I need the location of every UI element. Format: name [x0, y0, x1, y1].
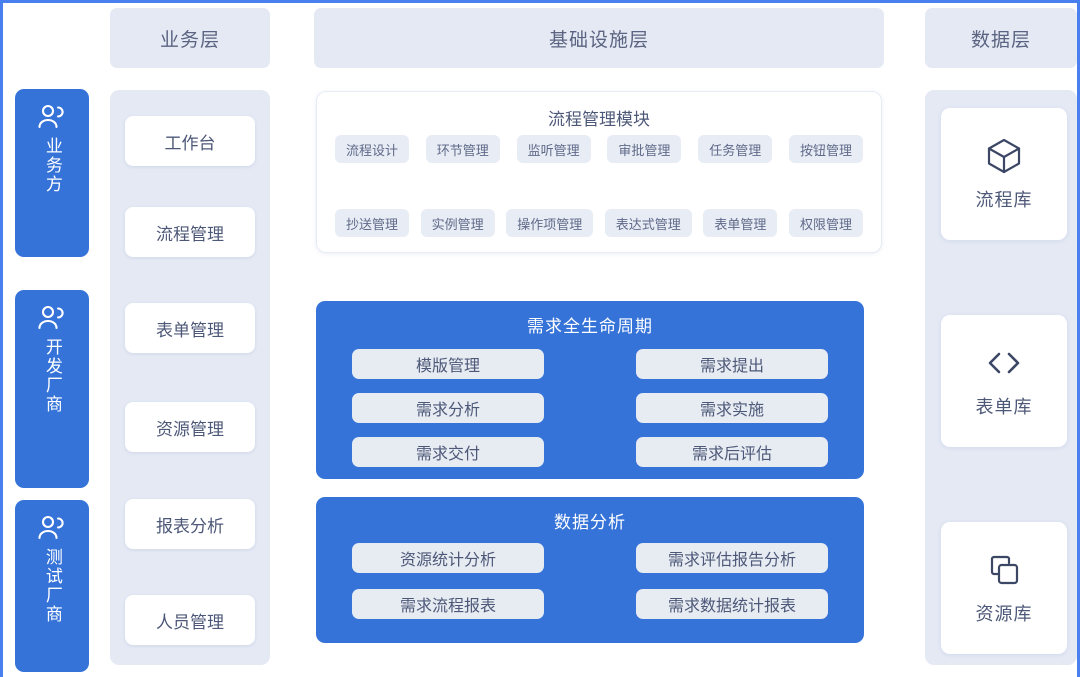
- data-card-label: 表单库: [976, 393, 1033, 419]
- analysis-item-resource-statistics[interactable]: 资源统计分析: [352, 543, 544, 573]
- analysis-item-requirement-data-statistics-report[interactable]: 需求数据统计报表: [636, 589, 828, 619]
- business-item-label: 报表分析: [156, 512, 224, 537]
- process-module-chip-row-2: 抄送管理 实例管理 操作项管理 表达式管理 表单管理 权限管理: [335, 209, 863, 237]
- code-brackets-icon: [984, 343, 1024, 383]
- business-layer-panel: [110, 90, 270, 665]
- lifecycle-item-post-requirement-evaluation[interactable]: 需求后评估: [636, 437, 828, 467]
- chip-button-management[interactable]: 按钮管理: [789, 135, 863, 163]
- lifecycle-item-template-management[interactable]: 模版管理: [352, 349, 544, 379]
- data-card-label: 资源库: [976, 600, 1033, 626]
- business-item-workbench[interactable]: 工作台: [125, 116, 255, 166]
- chip-node-management[interactable]: 环节管理: [426, 135, 500, 163]
- requirement-lifecycle-items: 模版管理 需求提出 需求分析 需求实施 需求交付 需求后评估: [316, 349, 864, 481]
- chip-task-management[interactable]: 任务管理: [698, 135, 772, 163]
- chip-cc-management[interactable]: 抄送管理: [335, 209, 409, 237]
- cube-icon: [984, 136, 1024, 176]
- lifecycle-item-requirement-implementation[interactable]: 需求实施: [636, 393, 828, 423]
- process-management-module-card: 流程管理模块 流程设计 环节管理 监听管理 审批管理 任务管理 按钮管理 抄送管…: [316, 91, 882, 253]
- actor-card-development-vendor[interactable]: 开发厂商: [15, 290, 89, 488]
- business-item-label: 人员管理: [156, 608, 224, 633]
- layer-header-business-label: 业务层: [160, 25, 220, 52]
- lifecycle-item-requirement-analysis[interactable]: 需求分析: [352, 393, 544, 423]
- actor-card-business-party[interactable]: 业务方: [15, 89, 89, 257]
- data-card-process-repository[interactable]: 流程库: [941, 108, 1067, 240]
- layer-header-business: 业务层: [110, 8, 270, 68]
- data-analysis-panel: 数据分析 资源统计分析 需求评估报告分析 需求流程报表 需求数据统计报表: [316, 497, 864, 643]
- business-item-label: 资源管理: [156, 415, 224, 440]
- business-item-personnel-management[interactable]: 人员管理: [125, 595, 255, 645]
- business-item-process-management[interactable]: 流程管理: [125, 207, 255, 257]
- data-card-resource-repository[interactable]: 资源库: [941, 522, 1067, 654]
- users-icon: [35, 103, 69, 131]
- chip-expression-management[interactable]: 表达式管理: [605, 209, 692, 237]
- lifecycle-item-requirement-submission[interactable]: 需求提出: [636, 349, 828, 379]
- chip-form-management[interactable]: 表单管理: [703, 209, 777, 237]
- lifecycle-item-requirement-delivery[interactable]: 需求交付: [352, 437, 544, 467]
- users-icon: [35, 304, 69, 332]
- business-item-label: 流程管理: [156, 220, 224, 245]
- requirement-lifecycle-title: 需求全生命周期: [316, 301, 864, 337]
- layer-header-infrastructure: 基础设施层: [314, 8, 884, 68]
- business-item-resource-management[interactable]: 资源管理: [125, 402, 255, 452]
- data-card-label: 流程库: [976, 186, 1033, 212]
- business-item-report-analysis[interactable]: 报表分析: [125, 499, 255, 549]
- requirement-lifecycle-panel: 需求全生命周期 模版管理 需求提出 需求分析 需求实施 需求交付 需求后评估: [316, 301, 864, 479]
- chip-permission-management[interactable]: 权限管理: [789, 209, 863, 237]
- chip-operation-item-management[interactable]: 操作项管理: [506, 209, 593, 237]
- process-module-chip-row-1: 流程设计 环节管理 监听管理 审批管理 任务管理 按钮管理: [335, 135, 863, 163]
- data-analysis-title: 数据分析: [316, 497, 864, 533]
- copy-layers-icon: [984, 550, 1024, 590]
- analysis-item-requirement-process-report[interactable]: 需求流程报表: [352, 589, 544, 619]
- layer-header-data: 数据层: [925, 8, 1077, 68]
- business-item-form-management[interactable]: 表单管理: [125, 303, 255, 353]
- business-item-label: 表单管理: [156, 316, 224, 341]
- actor-label: 业务方: [41, 137, 63, 194]
- users-icon: [35, 514, 69, 542]
- process-module-title: 流程管理模块: [317, 105, 881, 130]
- business-item-label: 工作台: [165, 129, 216, 154]
- data-analysis-items: 资源统计分析 需求评估报告分析 需求流程报表 需求数据统计报表: [316, 543, 864, 635]
- actor-card-testing-vendor[interactable]: 测试厂商: [15, 500, 89, 672]
- layer-header-data-label: 数据层: [971, 25, 1031, 52]
- chip-listener-management[interactable]: 监听管理: [517, 135, 591, 163]
- actor-label: 测试厂商: [41, 548, 63, 624]
- chip-process-design[interactable]: 流程设计: [335, 135, 409, 163]
- data-card-form-repository[interactable]: 表单库: [941, 315, 1067, 447]
- actor-label: 开发厂商: [41, 338, 63, 414]
- analysis-item-requirement-evaluation-report[interactable]: 需求评估报告分析: [636, 543, 828, 573]
- chip-approval-management[interactable]: 审批管理: [607, 135, 681, 163]
- chip-instance-management[interactable]: 实例管理: [421, 209, 495, 237]
- layer-header-infrastructure-label: 基础设施层: [549, 25, 649, 52]
- architecture-diagram: 业务层 基础设施层 数据层 业务方 开发厂商 测试厂商 工作台: [0, 0, 1080, 677]
